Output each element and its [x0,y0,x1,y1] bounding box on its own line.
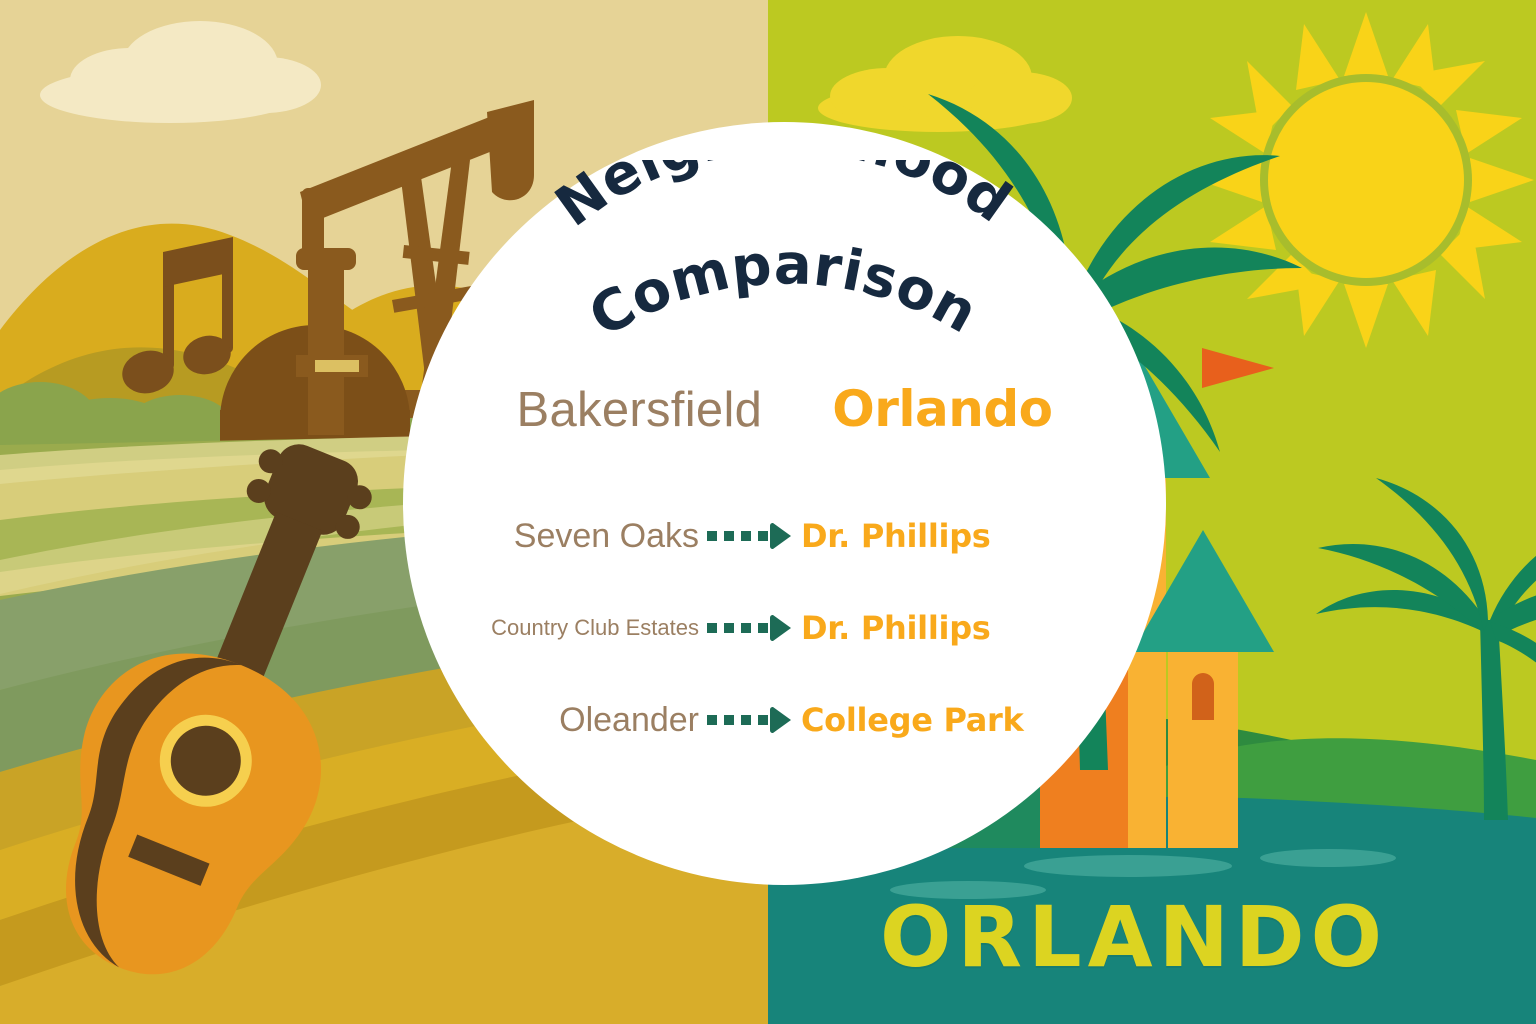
page-title-line1: Neighborhood [544,160,1023,240]
city-label-orlando: Orlando [832,380,1052,438]
page-title-line2: Comparison [579,232,989,350]
neighborhood-bakersfield: Country Club Estates [403,615,703,641]
neighborhood-bakersfield: Oleander [403,701,703,740]
table-row: Seven Oaks Dr. Phillips [403,490,1166,582]
table-row: Country Club Estates Dr. Phillips [403,582,1166,674]
svg-text:Neighborhood: Neighborhood [544,160,1023,240]
neighborhood-bakersfield: Seven Oaks [403,517,703,556]
neighborhood-orlando: Dr. Phillips [795,609,1095,647]
table-row: Oleander College Park [403,674,1166,766]
city-label-bakersfield: Bakersfield [517,382,763,438]
page-title: Neighborhood Comparison [403,160,1166,390]
infographic-canvas: Neighborhood Comparison Bakersfield Orla… [0,0,1536,1024]
city-header-row: Bakersfield Orlando [403,380,1166,438]
neighborhood-orlando: Dr. Phillips [795,517,1095,555]
dotted-arrow-right-icon [703,520,795,552]
svg-text:Comparison: Comparison [579,232,989,350]
neighborhood-orlando: College Park [795,701,1095,739]
comparison-panel: Neighborhood Comparison Bakersfield Orla… [403,122,1166,885]
dotted-arrow-right-icon [703,612,795,644]
dotted-arrow-right-icon [703,704,795,736]
orlando-wordmark: ORLANDO [880,888,1388,986]
comparison-rows: Seven Oaks Dr. Phillips Coun [403,490,1166,766]
